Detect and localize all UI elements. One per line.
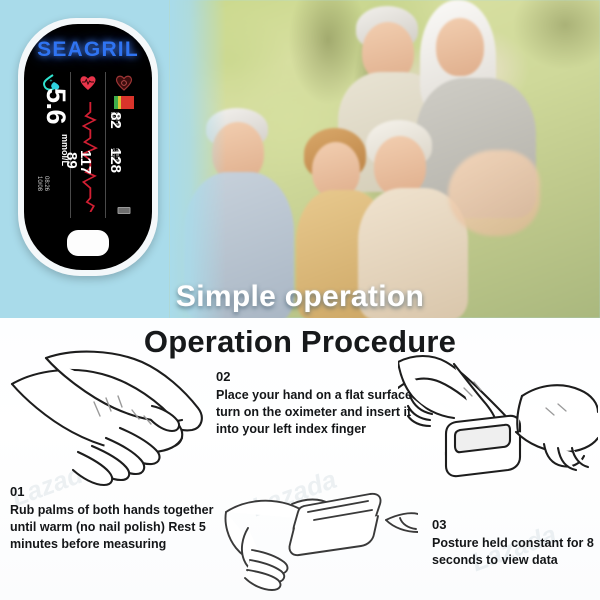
head — [374, 136, 426, 196]
brand-logo: SEAGRIL — [24, 38, 152, 62]
blood-pressure-icon — [115, 74, 133, 96]
step-02-number: 02 — [216, 368, 416, 385]
device-home-button[interactable] — [67, 230, 109, 256]
step-01-text: 01 Rub palms of both hands together unti… — [10, 483, 216, 552]
step-03-text: 03 Posture held constant for 8 seconds t… — [432, 516, 598, 569]
device-screen-face: SEAGRIL + 5.6 mmol/L 08:2 — [24, 24, 152, 270]
panel-blood-pressure: DIA mmHg 82 SYS mmHg 128 — [105, 72, 141, 218]
lifestyle-photo — [170, 0, 600, 318]
device-display: + 5.6 mmol/L 08:26 10/08 — [35, 72, 141, 218]
sys-value: 128 — [108, 148, 123, 173]
glucose-value: 5.6 — [42, 88, 69, 124]
hand-resting-with-oximeter-illustration — [222, 490, 418, 596]
procedure-section: Operation Procedure Lazada Lazada Lazada — [0, 318, 600, 600]
raised-hand — [448, 150, 540, 236]
photo-edge-fade — [170, 0, 226, 318]
step-02-body: Place your hand on a flat surface turn o… — [216, 388, 412, 435]
hands-rubbing-palms-illustration — [2, 346, 220, 494]
oximeter-device: SEAGRIL + 5.6 mmol/L 08:2 — [18, 18, 158, 276]
step-03-number: 03 — [432, 516, 598, 533]
dia-value: 82 — [108, 112, 123, 129]
elderly-people-group — [170, 0, 600, 318]
step-01-number: 01 — [10, 483, 216, 500]
hero-caption: Simple operation — [0, 280, 600, 314]
head — [436, 18, 484, 76]
product-infographic: SEAGRIL + 5.6 mmol/L 08:2 — [0, 0, 600, 600]
panel-pulse: 117 89 — [70, 72, 106, 218]
heart-pulse-icon — [79, 74, 97, 96]
step-03-body: Posture held constant for 8 seconds to v… — [432, 536, 594, 567]
panel-glucose: + 5.6 mmol/L 08:26 10/08 — [35, 72, 70, 218]
battery-icon — [117, 207, 130, 214]
svg-text:+: + — [50, 79, 53, 85]
step-01-body: Rub palms of both hands together until w… — [10, 503, 213, 550]
step-02-text: 02 Place your hand on a flat surface tur… — [216, 368, 416, 437]
hero-section: SEAGRIL + 5.6 mmol/L 08:2 — [0, 0, 600, 318]
inserting-finger-into-oximeter-illustration — [398, 348, 598, 498]
pulse-value-secondary: 89 — [64, 152, 79, 169]
bp-level-bar — [114, 96, 134, 109]
glucose-time: 08:26 — [43, 176, 49, 191]
glucose-date: 10/08 — [36, 176, 42, 191]
